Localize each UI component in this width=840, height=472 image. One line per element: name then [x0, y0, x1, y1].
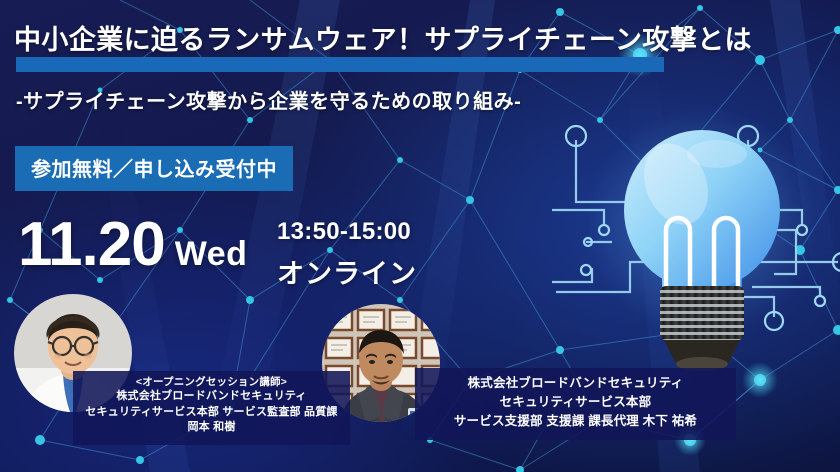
title-underline-bar	[16, 57, 664, 72]
webinar-banner: 中小企業に迫るランサムウェア！サプライチェーン攻撃とは -サプライチェーン攻撃か…	[0, 0, 840, 472]
page-title: 中小企業に迫るランサムウェア！サプライチェーン攻撃とは	[14, 18, 714, 57]
event-day-of-week: Wed	[175, 235, 248, 274]
event-time: 13:50-15:00	[277, 218, 417, 246]
event-date: 11.20	[18, 214, 165, 276]
speaker-role-label: <オープニングセッション講師>	[73, 375, 350, 389]
speaker-caption-right: 株式会社ブロードバンドセキュリティ セキュリティサービス本部 サービス支援部 支…	[415, 368, 736, 440]
banner-title-block: 中小企業に迫るランサムウェア！サプライチェーン攻撃とは	[14, 18, 714, 57]
speaker-name: 岡本 和樹	[73, 420, 350, 435]
speaker-department: セキュリティサービス本部 サービス監査部 品質課	[73, 405, 350, 420]
speaker-company: 株式会社ブロードバンドセキュリティ	[415, 374, 736, 393]
registration-badge[interactable]: 参加無料／申し込み受付中	[15, 146, 293, 191]
speaker-department-name: サービス支援部 支援課 課長代理 木下 祐希	[415, 412, 736, 431]
speaker-division: セキュリティサービス本部	[415, 393, 736, 412]
event-time-block: 13:50-15:00 オンライン	[277, 218, 417, 291]
event-format: オンライン	[277, 252, 417, 291]
page-subtitle: -サプライチェーン攻撃から企業を守るための取り組み-	[16, 85, 521, 114]
speaker-company: 株式会社ブロードバンドセキュリティ	[73, 389, 350, 404]
speaker-caption-left: <オープニングセッション講師> 株式会社ブロードバンドセキュリティ セキュリティ…	[73, 371, 350, 445]
lightbulb-circuit-icon	[552, 92, 840, 392]
event-date-row: 11.20 Wed	[18, 214, 247, 276]
